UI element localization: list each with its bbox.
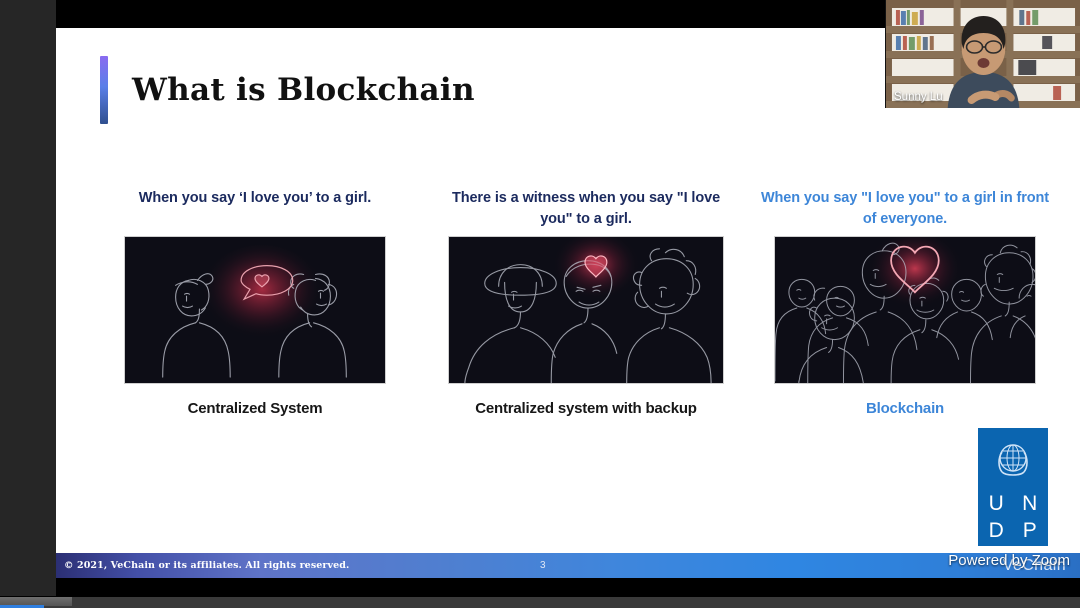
screen: What is Blockchain When you say ‘I love … [0, 0, 1080, 608]
illustration-crowd [774, 236, 1036, 384]
page-title: What is Blockchain [132, 72, 475, 108]
copyright-text: © 2021, VeChain or its affiliates. All r… [64, 560, 349, 571]
undp-letter-p: P [1015, 519, 1046, 543]
panel-centralized-with-backup: There is a witness when you say "I love … [436, 188, 736, 417]
bottom-scrollbar[interactable] [0, 597, 1080, 608]
un-globe-laurel-emblem [981, 431, 1045, 489]
panel-caption: When you say ‘I love you’ to a girl. [90, 188, 420, 234]
page-number: 3 [540, 560, 546, 571]
presentation-letterbox-bottom [56, 578, 1080, 597]
panel-label: Centralized System [90, 400, 420, 417]
panel-blockchain: When you say "I love you" to a girl in f… [760, 188, 1050, 417]
panel-label: Blockchain [760, 400, 1050, 417]
undp-logo: U N D P [978, 428, 1048, 546]
slide-footer: © 2021, VeChain or its affiliates. All r… [56, 553, 1080, 578]
panel-label: Centralized system with backup [436, 400, 736, 417]
panel-row: When you say ‘I love you’ to a girl. [56, 188, 1080, 417]
participant-video-tile[interactable]: Sunny Lu [885, 0, 1080, 108]
powered-by-zoom-watermark: Powered by Zoom [948, 552, 1070, 569]
undp-letter-d: D [981, 519, 1012, 543]
title-accent-bar [100, 56, 108, 124]
illustration-two-people [124, 236, 386, 384]
slide-title-group: What is Blockchain [100, 56, 475, 124]
panel-caption: When you say "I love you" to a girl in f… [760, 188, 1050, 234]
panel-centralized-system: When you say ‘I love you’ to a girl. [90, 188, 420, 417]
slide-canvas: What is Blockchain When you say ‘I love … [56, 28, 1080, 578]
illustration-three-people [448, 236, 724, 384]
window-left-gutter [0, 0, 56, 596]
panel-caption: There is a witness when you say "I love … [436, 188, 736, 234]
undp-letters: U N D P [981, 492, 1045, 543]
undp-letter-u: U [981, 492, 1012, 516]
participant-name-label: Sunny Lu [894, 91, 943, 103]
undp-letter-n: N [1015, 492, 1046, 516]
